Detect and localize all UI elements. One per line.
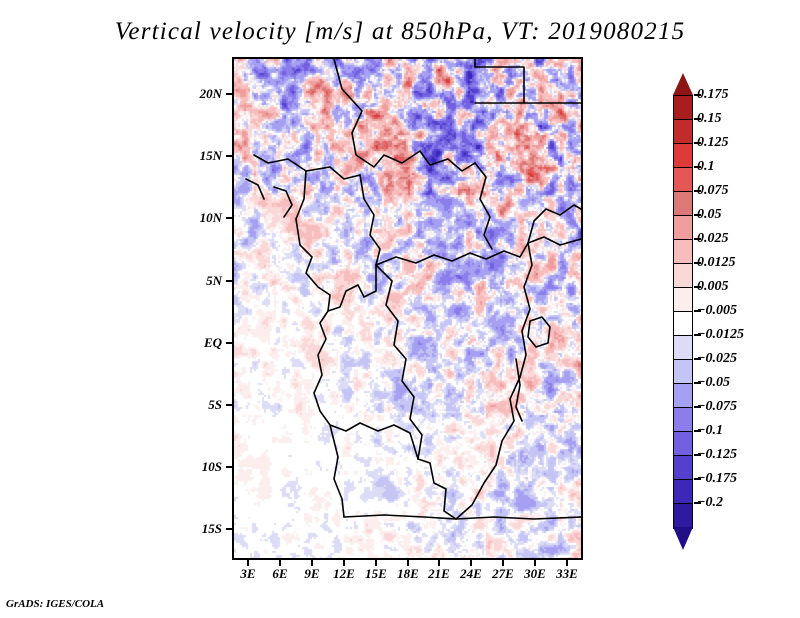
colorbar-segment	[673, 215, 693, 241]
longitude-tick-label: 6E	[272, 566, 287, 582]
latitude-tick-label: 15N	[200, 148, 222, 164]
colorbar-segment	[673, 359, 693, 385]
colorbar-segment	[673, 407, 693, 433]
longitude-tick-label: 27E	[492, 566, 514, 582]
latitude-tick	[226, 466, 232, 468]
map-plot-area	[232, 57, 583, 560]
colorbar-segment	[673, 311, 693, 337]
latitude-tick	[226, 155, 232, 157]
page-title: Vertical velocity [m/s] at 850hPa, VT: 2…	[0, 18, 800, 46]
latitude-tick-label: 10S	[202, 459, 222, 475]
latitude-tick-label: 5N	[206, 273, 222, 289]
colorbar-segment	[673, 167, 693, 193]
colorbar-tick-label: 0.125	[697, 135, 729, 151]
colorbar-tick-label: −0.025	[697, 351, 737, 367]
latitude-tick	[226, 93, 232, 95]
colorbar-tick-label: 0.025	[697, 231, 729, 247]
colorbar-tick-label: −0.1	[697, 423, 723, 439]
latitude-tick	[226, 528, 232, 530]
longitude-tick-label: 24E	[460, 566, 482, 582]
colorbar-tick-label: −0.005	[697, 303, 737, 319]
longitude-tick-label: 18E	[397, 566, 419, 582]
colorbar-tick-label: 0.1	[697, 159, 715, 175]
latitude-tick-label: 20N	[200, 86, 222, 102]
latitude-tick	[226, 404, 232, 406]
colorbar-tick-label: 0.075	[697, 183, 729, 199]
longitude-tick-label: 15E	[365, 566, 387, 582]
longitude-tick-label: 9E	[304, 566, 319, 582]
footer-credit: GrADS: IGES/COLA	[6, 598, 104, 610]
longitude-tick-label: 3E	[240, 566, 255, 582]
latitude-tick-label: 15S	[202, 521, 222, 537]
latitude-tick	[226, 342, 232, 344]
colorbar-tick-label: −0.175	[697, 471, 737, 487]
colorbar-tick-label: 0.005	[697, 279, 729, 295]
colorbar-segment	[673, 287, 693, 313]
colorbar-segment	[673, 239, 693, 265]
colorbar-segment	[673, 479, 693, 505]
longitude-tick-label: 12E	[333, 566, 355, 582]
country-borders-overlay	[234, 59, 581, 558]
colorbar-min-arrow	[673, 527, 693, 550]
colorbar-tick-label: 0.15	[697, 111, 722, 127]
colorbar-segment	[673, 191, 693, 217]
latitude-tick	[226, 217, 232, 219]
colorbar-tick-label: −0.075	[697, 399, 737, 415]
colorbar-segment	[673, 119, 693, 145]
colorbar-tick-label: 0.175	[697, 87, 729, 103]
colorbar-segment	[673, 263, 693, 289]
colorbar-segment	[673, 383, 693, 409]
colorbar-max-arrow	[673, 73, 693, 95]
longitude-tick-label: 21E	[428, 566, 450, 582]
longitude-tick-label: 33E	[556, 566, 578, 582]
colorbar-tick-label: 0.0125	[697, 255, 736, 271]
colorbar-tick-label: −0.125	[697, 447, 737, 463]
colorbar-segment	[673, 455, 693, 481]
latitude-tick	[226, 280, 232, 282]
latitude-tick-label: 10N	[200, 210, 222, 226]
colorbar-tick-label: 0.05	[697, 207, 722, 223]
longitude-tick-label: 30E	[524, 566, 546, 582]
colorbar-segment	[673, 431, 693, 457]
latitude-tick-label: EQ	[204, 335, 222, 351]
latitude-tick-label: 5S	[208, 397, 222, 413]
colorbar-tick-label: −0.2	[697, 495, 723, 511]
colorbar-segment	[673, 335, 693, 361]
colorbar-segment	[673, 503, 693, 529]
colorbar-tick-label: −0.05	[697, 375, 730, 391]
colorbar-tick-label: −0.0125	[697, 327, 744, 343]
colorbar-segment	[673, 95, 693, 121]
colorbar-segment	[673, 143, 693, 169]
colorbar	[673, 73, 693, 550]
